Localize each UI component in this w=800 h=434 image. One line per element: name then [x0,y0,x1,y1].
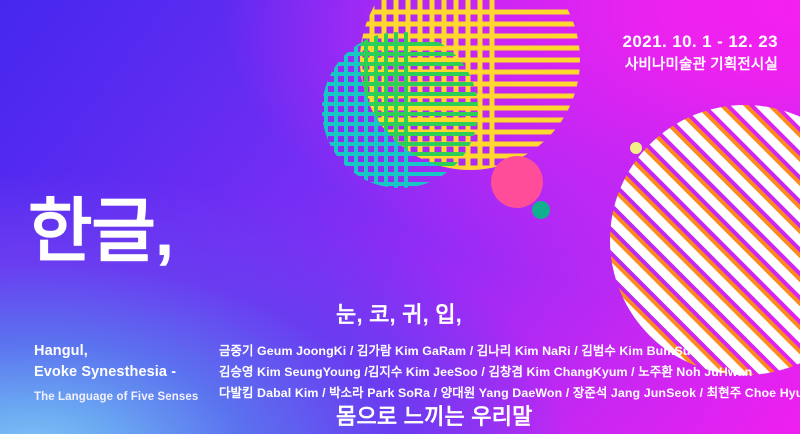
pink-dot [491,156,543,208]
teal-dot [532,201,550,219]
english-title-line-2: Evoke Synesthesia - [34,362,198,383]
yellow-dot [630,142,642,154]
english-title-line-1: Hangul, [34,341,198,362]
title-line-1: 한글, [28,189,293,274]
exhibition-dates: 2021. 10. 1 - 12. 23 [623,31,778,54]
subtitle-line-1: 눈, 코, 귀, 입, [336,298,533,332]
artist-row: 다발킴 Dabal Kim / 박소라 Park SoRa / 양대원 Yang… [219,383,792,404]
date-venue-block: 2021. 10. 1 - 12. 23 사비나미술관 기획전시실 [623,31,778,77]
artist-list: 금중기 Geum JoongKi / 김가람 Kim GaRam / 김나리 K… [219,341,792,404]
subtitle-line-2: 몸으로 느끼는 우리말 [336,400,533,434]
orange-diagonal-stripe-circle [610,105,800,375]
english-subtitle: The Language of Five Senses [34,389,198,405]
english-title-block: Hangul, Evoke Synesthesia - The Language… [34,341,198,405]
exhibition-poster: 한글, 공감각을 깨우다 – 눈, 코, 귀, 입, 몸으로 느끼는 우리말 2… [0,0,800,434]
exhibition-venue: 사비나미술관 기획전시실 [623,55,778,77]
artist-row: 김승영 Kim SeungYoung /김지수 Kim JeeSoo / 김창겸… [219,362,792,383]
artist-row: 금중기 Geum JoongKi / 김가람 Kim GaRam / 김나리 K… [219,341,792,362]
